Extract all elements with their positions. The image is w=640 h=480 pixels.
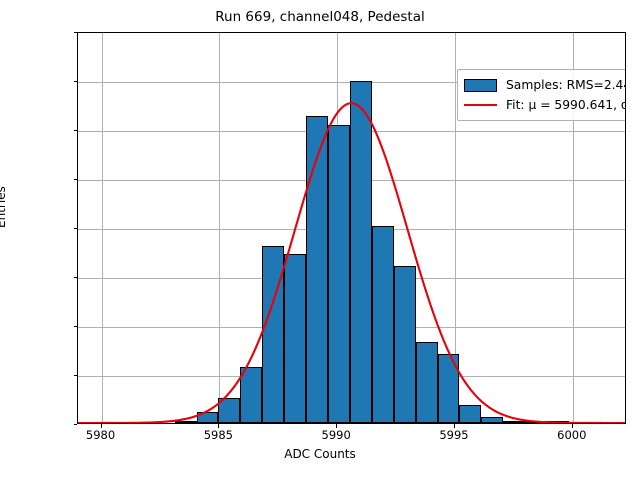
legend-line-swatch-icon [464,104,497,106]
chart-title: Run 669, channel048, Pedestal [0,9,640,25]
y-tick-mark [74,326,78,327]
y-tick-mark [74,130,78,131]
x-tick-label: 5985 [204,428,233,442]
x-tick-label: 5995 [439,428,468,442]
y-tick-mark [74,81,78,82]
x-tick-label: 5990 [322,428,351,442]
x-axis-label: ADC Counts [0,447,640,461]
figure-canvas: Run 669, channel048, Pedestal Samples: R… [0,0,640,480]
x-tick-mark [218,424,219,428]
x-tick-mark [572,424,573,428]
y-tick-mark [74,424,78,425]
legend-entry-fit: Fit: μ = 5990.641, σ = 2.391 [464,95,626,115]
y-axis-label: Entries [0,186,8,228]
y-tick-mark [74,32,78,33]
x-tick-mark [454,424,455,428]
legend-patch-swatch-icon [464,79,497,92]
legend-label-samples: Samples: RMS=2.44 [506,78,626,92]
legend-label-fit: Fit: μ = 5990.641, σ = 2.391 [506,98,626,112]
x-tick-label: 5980 [86,428,115,442]
legend-entry-samples: Samples: RMS=2.44 [464,75,626,95]
y-tick-mark [74,375,78,376]
y-tick-mark [74,228,78,229]
legend-box: Samples: RMS=2.44 Fit: μ = 5990.641, σ =… [457,69,626,121]
y-tick-mark [74,277,78,278]
y-tick-mark [74,179,78,180]
x-tick-mark [336,424,337,428]
plot-area: Samples: RMS=2.44 Fit: μ = 5990.641, σ =… [77,32,626,424]
x-tick-label: 6000 [557,428,586,442]
x-tick-mark [101,424,102,428]
